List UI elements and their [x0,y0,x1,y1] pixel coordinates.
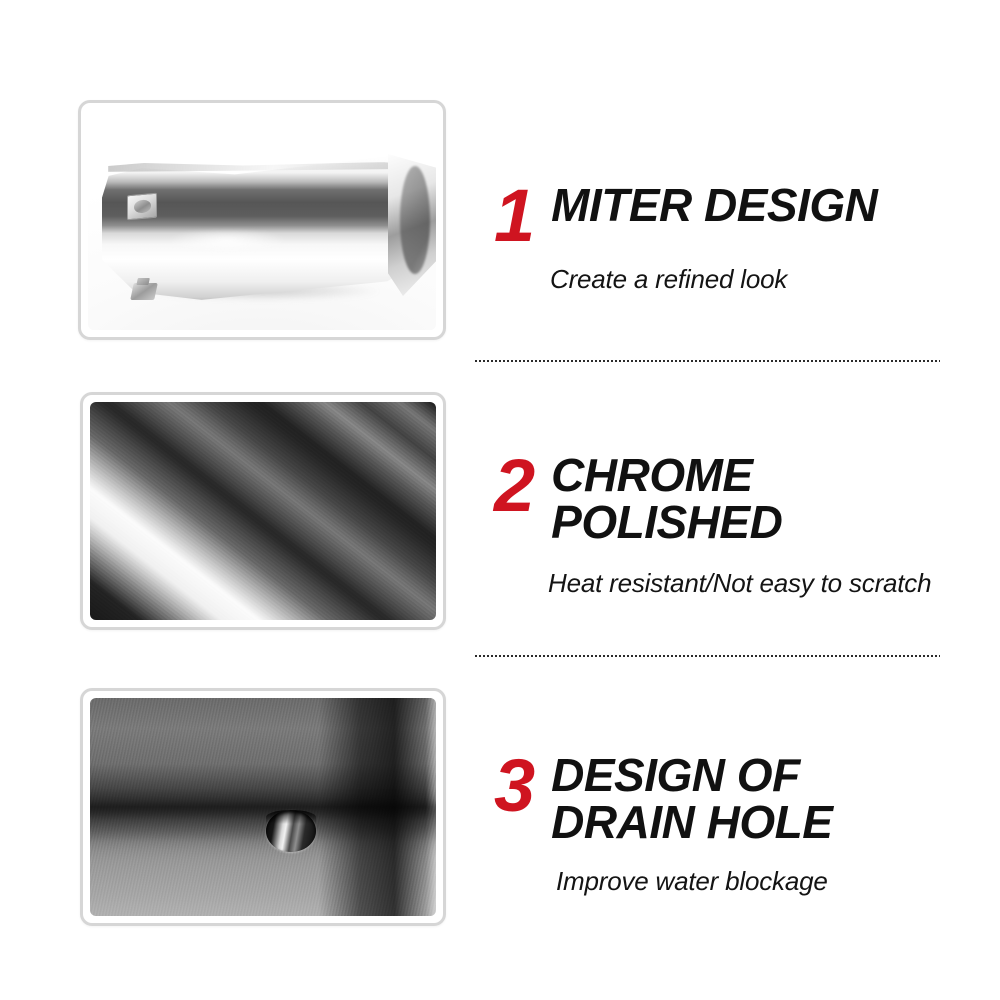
chrome-specular-highlight [166,228,301,254]
feature-3-number: 3 [494,752,533,820]
feature-1-text-block: 1 MITER DESIGN Create a refined look [494,182,877,295]
feature-2-heading-row: 2 CHROME POLISHED [494,452,931,546]
divider-between-1-and-2 [475,360,940,362]
feature-2-photo-card [80,392,446,630]
feature-1-photo-card [78,100,446,340]
exhaust-tip-miter-cut-photo [88,110,436,330]
feature-3-title: DESIGN OF DRAIN HOLE [551,752,832,846]
divider-between-2-and-3 [475,655,940,657]
drain-crease-shadow [90,803,436,851]
drain-hole [266,810,316,852]
feature-3-heading-row: 3 DESIGN OF DRAIN HOLE [494,752,832,846]
feature-3-subtitle: Improve water blockage [556,866,832,897]
infographic-page: 1 MITER DESIGN Create a refined look 2 C… [0,0,1000,1000]
set-screw-boss [127,193,157,221]
feature-1-number: 1 [494,182,533,250]
exhaust-tip-outlet-opening [400,166,430,274]
chrome-brush-grain [90,402,436,620]
feature-2-number: 2 [494,452,533,520]
feature-1-subtitle: Create a refined look [550,264,877,295]
feature-1-title: MITER DESIGN [551,182,877,229]
feature-2-text-block: 2 CHROME POLISHED Heat resistant/Not eas… [494,452,931,599]
chrome-polished-surface-photo [90,402,436,620]
feature-2-title: CHROME POLISHED [551,452,782,546]
feature-1-heading-row: 1 MITER DESIGN [494,182,877,250]
feature-2-subtitle: Heat resistant/Not easy to scratch [548,568,931,599]
clamp-tab [130,283,158,300]
feature-3-photo-card [80,688,446,926]
feature-3-text-block: 3 DESIGN OF DRAIN HOLE Improve water blo… [494,752,832,897]
drain-hole-closeup-photo [90,698,436,916]
